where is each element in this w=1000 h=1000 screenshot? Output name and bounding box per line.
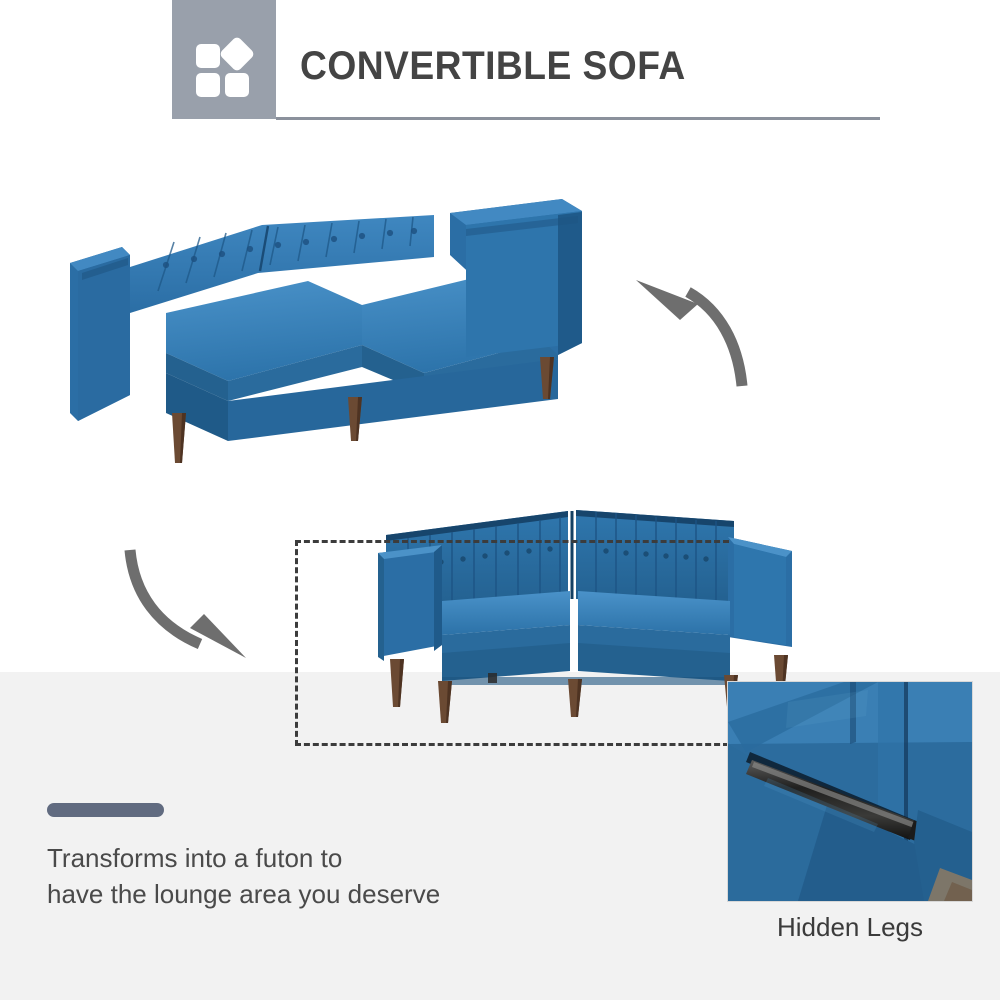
grid-four-squares-icon xyxy=(196,40,254,98)
description-line-2: have the lounge area you deserve xyxy=(47,876,567,912)
text-accent-bar xyxy=(47,803,164,817)
description-line-1: Transforms into a futon to xyxy=(47,840,567,876)
curved-arrow-down-right-icon xyxy=(100,528,260,663)
hidden-legs-detail-photo xyxy=(728,682,972,901)
description-text: Transforms into a futon to have the loun… xyxy=(47,840,567,912)
infographic-canvas: CONVERTIBLE SOFA xyxy=(0,0,1000,1000)
header-divider-rule xyxy=(276,117,880,120)
inset-caption-hidden-legs: Hidden Legs xyxy=(728,912,972,943)
hidden-legs-callout-box xyxy=(295,540,729,746)
curved-arrow-up-left-icon xyxy=(600,258,750,388)
page-title: CONVERTIBLE SOFA xyxy=(300,44,686,89)
sofa-bed-flat-futon-mode xyxy=(62,185,622,485)
